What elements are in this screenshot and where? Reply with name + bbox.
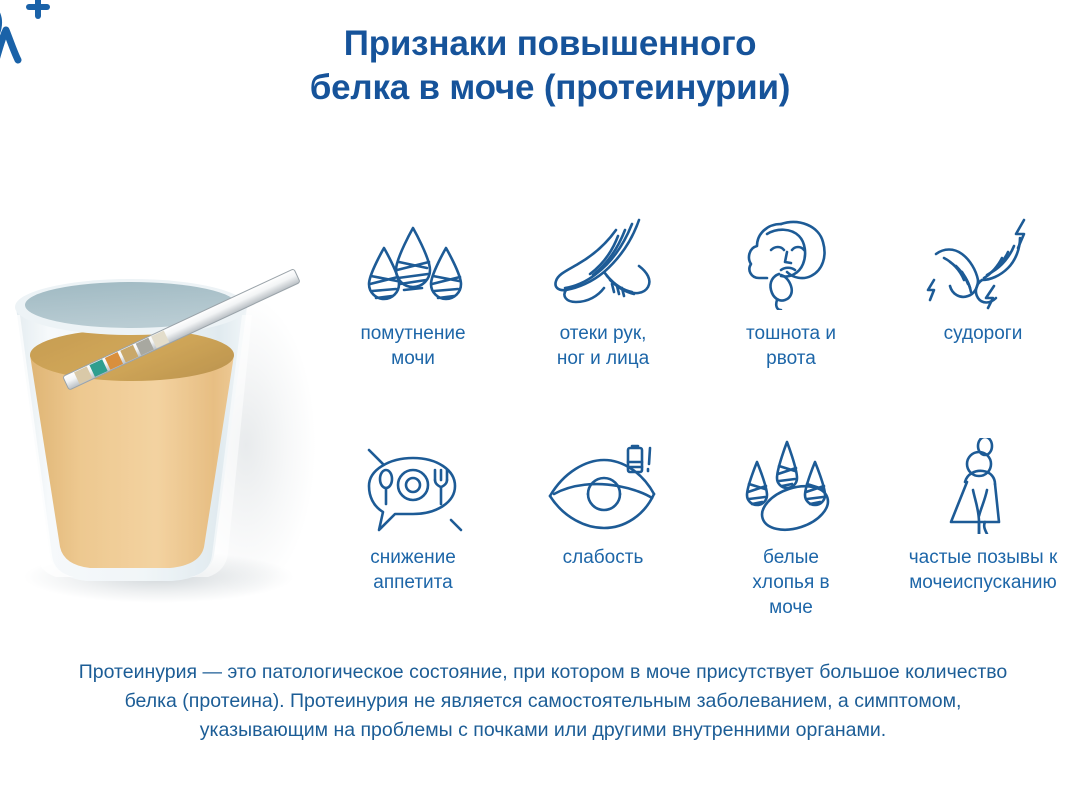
symptom-item-frequent-urination[interactable]: частые позывы кмочеиспусканию bbox=[883, 436, 1083, 595]
plus-icon bbox=[29, 0, 47, 16]
title-line-2: белка в моче (протеинурии) bbox=[205, 66, 895, 110]
symptom-label: помутнениемочи bbox=[322, 321, 504, 371]
brand-logo bbox=[0, 0, 62, 76]
symptom-item-nausea[interactable]: тошнота ирвота bbox=[700, 212, 882, 371]
cramping-hands-icon bbox=[892, 212, 1074, 310]
symptom-label: отеки рук,ног и лица bbox=[512, 321, 694, 371]
symptom-label: снижениеаппетита bbox=[322, 545, 504, 595]
nausea-face-icon bbox=[700, 212, 882, 310]
symptom-item-swelling[interactable]: отеки рук,ног и лица bbox=[512, 212, 694, 371]
infographic-canvas: Признаки повышенного белка в моче (проте… bbox=[0, 0, 1083, 786]
symptom-label: тошнота ирвота bbox=[700, 321, 882, 371]
symptom-label: белыехлопья вмоче bbox=[700, 545, 882, 620]
frequent-urination-icon bbox=[883, 436, 1083, 534]
swollen-foot-icon bbox=[512, 212, 694, 310]
white-flakes-icon bbox=[700, 436, 882, 534]
title-line-1: Признаки повышенного bbox=[205, 22, 895, 66]
symptom-label: судороги bbox=[892, 321, 1074, 346]
cloudy-drops-icon bbox=[322, 212, 504, 310]
page-title: Признаки повышенного белка в моче (проте… bbox=[205, 22, 895, 110]
footer-description: Протеинурия — это патологическое состоян… bbox=[72, 658, 1014, 745]
tired-eye-battery-icon bbox=[512, 436, 694, 534]
symptom-item-cramps[interactable]: судороги bbox=[892, 212, 1074, 346]
symptom-label: слабость bbox=[512, 545, 694, 570]
symptom-item-cloudy-urine[interactable]: помутнениемочи bbox=[322, 212, 504, 371]
symptom-item-weakness[interactable]: слабость bbox=[512, 436, 694, 570]
symptom-grid: помутнениемочи bbox=[316, 212, 1083, 622]
no-appetite-bubble-icon bbox=[322, 436, 504, 534]
symptom-item-white-flakes[interactable]: белыехлопья вмоче bbox=[700, 436, 882, 620]
symptom-item-appetite[interactable]: снижениеаппетита bbox=[322, 436, 504, 595]
symptom-label: частые позывы кмочеиспусканию bbox=[883, 545, 1083, 595]
urine-glass-illustration bbox=[0, 225, 344, 620]
